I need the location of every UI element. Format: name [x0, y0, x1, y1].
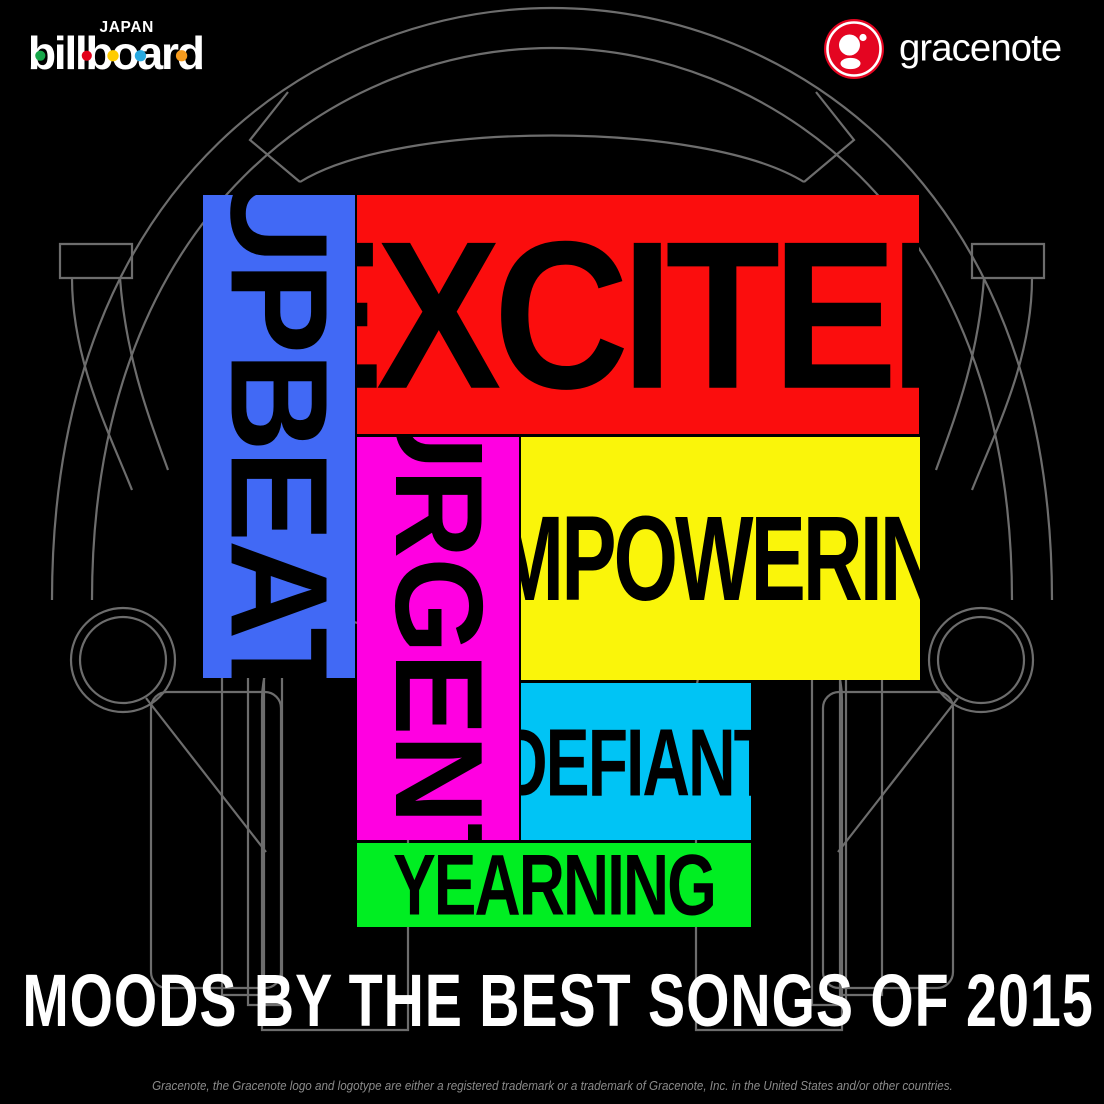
mood-block-urgent[interactable]: URGENT	[357, 437, 519, 840]
svg-text:gracenote: gracenote	[899, 29, 1061, 69]
poster-tagline: MOODS BY THE BEST SONGS OF 2015	[0, 958, 1104, 1025]
gracenote-g-icon	[823, 18, 885, 80]
billboard-japan-logo[interactable]: JAPAN billboard	[26, 14, 206, 76]
billboard-dot-red	[82, 51, 92, 61]
poster-canvas: JAPAN billboard gracenote UPBEAT EXCITED…	[0, 0, 1104, 1104]
mood-label-excited: EXCITED	[357, 209, 919, 420]
billboard-dot-blue	[135, 50, 146, 61]
mood-label-empowering: EMPOWERING	[521, 498, 920, 618]
billboard-dot-green	[35, 51, 45, 61]
legal-notice-text: Gracenote, the Gracenote logo and logoty…	[152, 1079, 953, 1093]
legal-notice: Gracenote, the Gracenote logo and logoty…	[0, 1079, 1104, 1093]
billboard-dot-orange	[176, 50, 187, 61]
gracenote-wordmark: gracenote	[899, 29, 1082, 69]
mood-block-defiant[interactable]: DEFIANT	[521, 683, 751, 840]
mood-label-upbeat: UPBEAT	[210, 195, 348, 678]
mood-label-yearning: YEARNING	[393, 843, 715, 927]
mood-block-empowering[interactable]: EMPOWERING	[521, 437, 920, 680]
mood-label-urgent: URGENT	[376, 437, 500, 840]
mood-label-defiant: DEFIANT	[521, 714, 751, 810]
poster-tagline-text: MOODS BY THE BEST SONGS OF 2015	[22, 958, 1093, 1044]
mood-block-upbeat[interactable]: UPBEAT	[203, 195, 355, 678]
mood-block-excited[interactable]: EXCITED	[357, 195, 919, 434]
billboard-dot-yellow	[107, 50, 118, 61]
mood-block-yearning[interactable]: YEARNING	[357, 843, 751, 927]
gracenote-logo[interactable]: gracenote	[823, 18, 1082, 80]
